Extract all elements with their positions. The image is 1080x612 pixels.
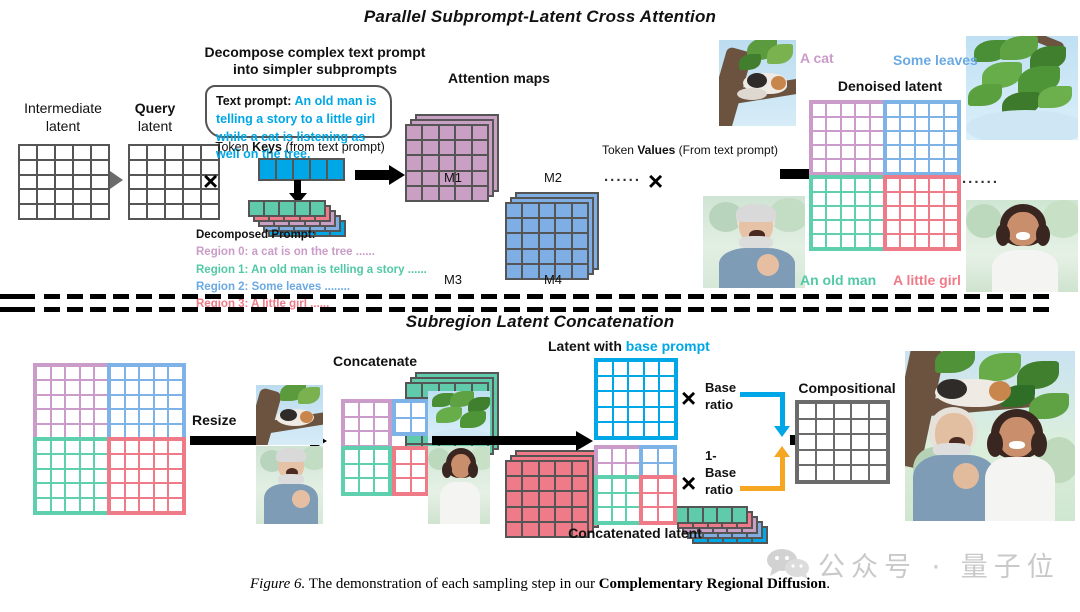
multiply-symbol-values: ×: [648, 168, 663, 194]
query-latent-label-line2: latent: [122, 118, 188, 136]
attention-map-m4-label: M4: [505, 272, 601, 288]
latent-transfer-arrow: [110, 171, 123, 189]
query-latent-label-line1: Query: [122, 100, 188, 118]
region-0-text: Region 0: a cat is on the tree ......: [196, 244, 446, 261]
subregion-latent-region-1: [33, 437, 112, 515]
denoised-latent-region-1: [809, 175, 887, 251]
one-minus-base-ratio-line2: Base: [705, 465, 736, 482]
denoised-label-some-leaves: Some leaves: [893, 52, 978, 68]
decompose-heading-line2: into simpler subprompts: [196, 61, 434, 78]
one-minus-base-ratio-line1: 1-: [705, 448, 736, 465]
figure-caption: Figure 6. The demonstration of each samp…: [0, 576, 1080, 593]
latent-with-highlight: base prompt: [626, 338, 710, 354]
attention-map-m3-label: M3: [405, 272, 501, 288]
base-prompt-latent-grid: [594, 358, 678, 440]
denoised-latent-title: Denoised latent: [800, 78, 980, 95]
subregion-latent-region-2: [107, 363, 186, 441]
top-section-title: Parallel Subprompt-Latent Cross Attentio…: [0, 7, 1080, 27]
compositional-latent-grid: [795, 400, 890, 484]
subregion-latent-region-0: [33, 363, 112, 441]
decompose-heading-line1: Decompose complex text prompt: [196, 44, 434, 61]
to-composition-arrow: [432, 432, 597, 450]
figure-caption-before: The demonstration of each sampling step …: [305, 576, 598, 592]
photo-final-composition: [905, 351, 1075, 521]
token-keys-caption-bold: Keys: [252, 140, 282, 154]
figure-caption-bold: Complementary Regional Diffusion: [599, 576, 827, 592]
token-values-caption: Token Values (From text prompt): [600, 143, 780, 157]
denoised-latent-region-0: [809, 100, 887, 176]
figure-caption-label: Figure 6.: [250, 576, 305, 592]
concat-small-region-3: [392, 446, 429, 496]
figure-caption-after: .: [826, 576, 830, 592]
intermediate-latent-label-line1: Intermediate: [8, 100, 118, 118]
photo-old-man: [703, 196, 805, 288]
subregion-latent-region-3: [107, 437, 186, 515]
attention-map-m1: [405, 124, 501, 202]
bottom-section-title: Subregion Latent Concatenation: [0, 312, 1080, 332]
denoised-label-a-cat: A cat: [800, 50, 834, 66]
photo-old-man-resized: [256, 446, 323, 524]
attention-map-m2-label: M2: [505, 170, 601, 186]
concatenated-latent-region-1: [594, 475, 644, 525]
text-prompt-label: Text prompt: [216, 94, 287, 108]
token-keys-caption-post: (from text prompt): [282, 140, 385, 154]
decomposed-prompt-header: Decomposed Prompt:: [196, 227, 446, 244]
multiply-symbol-base-ratio: ×: [681, 385, 696, 411]
multiply-symbol-keys: ×: [203, 168, 218, 194]
photo-cat-resized: [256, 385, 323, 445]
photo-leaves: [966, 36, 1078, 140]
denoised-latent-region-3: [883, 175, 961, 251]
photo-cat-on-tree: [719, 40, 796, 126]
concat-small-region-2: [392, 399, 429, 436]
denoised-latent-region-2: [883, 100, 961, 176]
attention-map-m1-label: M1: [405, 170, 501, 186]
latent-with-base-prompt-label: Latent with base prompt: [548, 338, 748, 355]
token-keys-caption: Token Keys (from text prompt): [205, 140, 395, 154]
concatenated-latent-region-3: [639, 475, 677, 525]
resize-label: Resize: [192, 412, 236, 428]
intermediate-latent-label: Intermediate latent: [8, 100, 118, 135]
photo-little-girl-resized: [428, 446, 490, 524]
one-minus-base-ratio-line3: ratio: [705, 482, 736, 499]
base-ratio-line1: Base: [705, 380, 736, 397]
attention-maps-title: Attention maps: [410, 70, 588, 87]
token-keys-caption-pre: Token: [215, 140, 252, 154]
text-prompt-colon: :: [287, 94, 291, 108]
cross-attention-arrow: [355, 165, 407, 185]
compositional-latent-line1: Compositional: [778, 380, 916, 397]
concat-small-region-0: [341, 399, 392, 449]
denoised-latent-ellipsis: ......: [962, 170, 999, 187]
denoised-label-a-little-girl: A little girl: [893, 272, 961, 288]
one-minus-base-ratio-label: 1- Base ratio: [705, 448, 736, 499]
base-ratio-line2: ratio: [705, 397, 736, 414]
denoised-label-an-old-man: An old man: [800, 272, 876, 288]
token-values-caption-post: (From text prompt): [675, 143, 778, 157]
multiply-symbol-one-minus-base-ratio: ×: [681, 470, 696, 496]
concatenate-label: Concatenate: [320, 353, 430, 370]
photo-little-girl: [966, 200, 1078, 292]
concatenated-latent-label: Concatenated latent: [560, 525, 710, 542]
text-prompt-box: Text prompt: An old man is telling a sto…: [205, 85, 392, 138]
query-latent-label: Query latent: [122, 100, 188, 135]
token-values-caption-bold: Values: [637, 143, 675, 157]
base-ratio-label: Base ratio: [705, 380, 736, 414]
token-keys-strip: [258, 158, 345, 181]
token-values-caption-pre: Token: [602, 143, 637, 157]
divider-left-solid: [0, 294, 35, 299]
one-minus-base-ratio-connector: [740, 446, 790, 492]
attention-map-m2: [505, 202, 601, 280]
decompose-heading: Decompose complex text prompt into simpl…: [196, 44, 434, 78]
latent-with-pre: Latent with: [548, 338, 626, 354]
divider-dashes: [44, 294, 1049, 299]
intermediate-latent-label-line2: latent: [8, 118, 118, 136]
concat-small-region-1: [341, 446, 392, 496]
intermediate-latent-grid: [18, 144, 110, 220]
attention-maps-ellipsis: ......: [604, 168, 641, 185]
decomposed-prompt-block: Decomposed Prompt: Region 0: a cat is on…: [196, 227, 446, 313]
